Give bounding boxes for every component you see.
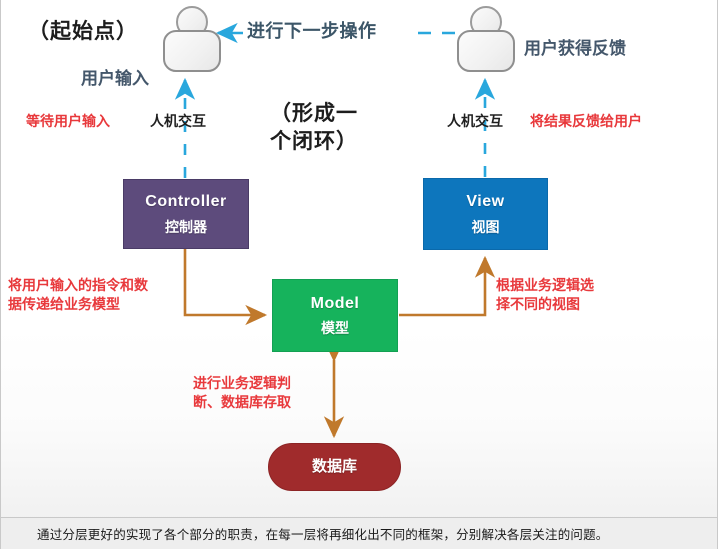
label-wait-for-input: 等待用户输入 bbox=[26, 112, 110, 131]
diagram-canvas: left user (dashed, leftward) --> left us… bbox=[0, 0, 718, 518]
label-model-to-view: 根据业务逻辑选 择不同的视图 bbox=[496, 276, 594, 314]
node-database-zh: 数据库 bbox=[312, 459, 357, 476]
node-view[interactable]: View 视图 bbox=[423, 178, 548, 250]
label-user-feedback: 用户获得反馈 bbox=[524, 38, 626, 61]
node-model[interactable]: Model 模型 bbox=[272, 279, 398, 352]
annotation-start-point: （起始点） bbox=[28, 18, 138, 46]
label-next-step: 进行下一步操作 bbox=[247, 19, 377, 43]
label-feedback-result: 将结果反馈给用户 bbox=[530, 112, 642, 131]
node-database[interactable]: 数据库 bbox=[268, 443, 401, 491]
label-hci-right: 人机交互 bbox=[447, 112, 503, 131]
user-body-icon bbox=[163, 30, 221, 72]
label-model-to-database: 进行业务逻辑判 断、数据库存取 bbox=[193, 374, 291, 412]
user-body-icon bbox=[457, 30, 515, 72]
node-controller-en: Controller bbox=[145, 193, 226, 211]
label-hci-left: 人机交互 bbox=[150, 112, 206, 131]
diagram-page: left user (dashed, leftward) --> left us… bbox=[0, 0, 718, 549]
wire-model-to-view bbox=[399, 258, 485, 315]
node-model-zh: 模型 bbox=[321, 321, 349, 336]
user-icon-right bbox=[457, 6, 515, 72]
node-model-en: Model bbox=[311, 295, 360, 313]
caption-text: 通过分层更好的实现了各个部分的职责，在每一层将再细化出不同的框架，分别解决各层关… bbox=[1, 524, 609, 543]
node-controller[interactable]: Controller 控制器 bbox=[123, 179, 249, 249]
label-controller-to-model: 将用户输入的指令和数 据传递给业务模型 bbox=[8, 276, 148, 314]
label-user-input: 用户输入 bbox=[81, 68, 149, 91]
node-controller-zh: 控制器 bbox=[165, 220, 207, 235]
wire-controller-to-model bbox=[185, 249, 265, 315]
node-view-zh: 视图 bbox=[472, 220, 500, 235]
node-view-en: View bbox=[466, 193, 504, 211]
caption-bar: 通过分层更好的实现了各个部分的职责，在每一层将再细化出不同的框架，分别解决各层关… bbox=[1, 517, 717, 549]
user-icon-left bbox=[163, 6, 221, 72]
annotation-closed-loop: （形成一 个闭环） bbox=[270, 100, 358, 157]
